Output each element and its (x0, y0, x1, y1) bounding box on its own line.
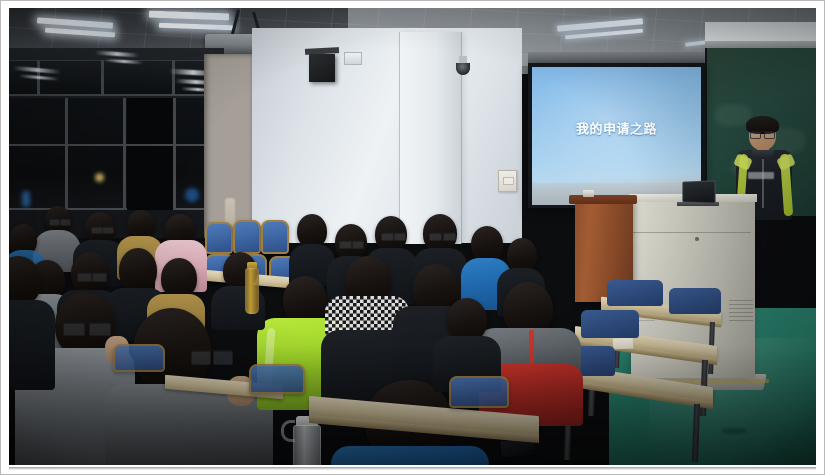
eyeglasses-icon (63, 322, 111, 334)
audience-head (507, 238, 537, 272)
chair[interactable] (449, 376, 509, 408)
lectern-top (569, 195, 637, 204)
distant-light-glow (95, 173, 104, 182)
audience-body (331, 446, 489, 465)
center-wall (252, 28, 522, 243)
chair[interactable] (261, 220, 289, 254)
wall-column (399, 32, 461, 244)
audience-head (119, 248, 157, 292)
chair[interactable] (581, 310, 639, 338)
audience-head (283, 276, 327, 324)
slide-surface: 我的申请之路 (532, 67, 701, 205)
podium-vent (729, 300, 753, 322)
audience-head (471, 226, 503, 262)
chair[interactable] (113, 344, 165, 372)
distant-light-glow (22, 191, 30, 207)
water-bottle (293, 425, 321, 465)
water-bottle-handle (281, 420, 295, 442)
chair[interactable] (205, 222, 233, 254)
tea-bottle (245, 268, 259, 314)
chair[interactable] (249, 364, 305, 394)
floor-marking (721, 428, 747, 434)
eyeglasses-icon (381, 232, 406, 239)
audience-body (9, 300, 55, 390)
jacket-logo (748, 172, 774, 179)
window-mullion (101, 60, 104, 96)
eyeglasses-icon (91, 226, 114, 232)
projection-screen: 我的申请之路 (528, 63, 705, 208)
photo-frame: 我的申请之路 (0, 0, 825, 475)
distant-light-glow (185, 188, 199, 202)
eyeglasses-icon (191, 350, 233, 363)
window-mullion (123, 98, 126, 210)
lectern-object (583, 190, 594, 197)
chair[interactable] (669, 288, 721, 314)
eyeglasses-icon (49, 218, 71, 224)
lecture-hall-photograph: 我的申请之路 (9, 8, 816, 465)
wall-speaker-icon (309, 54, 335, 82)
lanyard (529, 330, 534, 364)
chair[interactable] (233, 220, 261, 254)
audience-head (161, 258, 197, 298)
podium-panel-seam (633, 232, 751, 233)
jacket-zipper (762, 158, 764, 208)
laptop-icon (682, 180, 715, 203)
light-switch-icon[interactable] (498, 170, 517, 192)
eyeglasses-icon (339, 240, 364, 247)
audience-head (297, 214, 327, 248)
chair[interactable] (607, 280, 663, 306)
eyeglasses-icon (750, 131, 775, 136)
wall-access-plate (344, 52, 362, 65)
eyeglasses-icon (429, 232, 456, 239)
window-mullion (173, 98, 176, 210)
window-mullion (9, 144, 221, 146)
notebook-paper (613, 337, 634, 349)
window-pane-dark (127, 98, 173, 210)
window-mullion (65, 98, 68, 210)
upper-right-wall (705, 22, 816, 43)
slide-title: 我的申请之路 (532, 118, 701, 137)
wall-seam (399, 32, 400, 244)
podium-lock-icon[interactable] (695, 237, 699, 241)
eyeglasses-icon (77, 272, 107, 280)
